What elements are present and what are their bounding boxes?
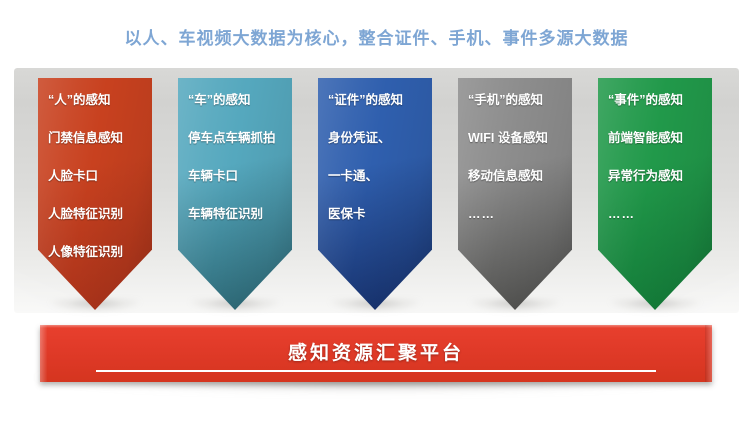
pennant-label-list-event: “事件”的感知前端智能感知异常行为感知…… [598,78,712,244]
pennant-header-event: “事件”的感知 [598,92,712,130]
pennant-item-credential-2: 医保卡 [318,206,432,244]
pennant-header-vehicle: “车”的感知 [178,92,292,130]
pennant-item-event-2: …… [598,206,712,244]
pennant-item-mobile-2: …… [458,206,572,244]
pennant-mobile[interactable]: “手机”的感知WIFI 设备感知移动信息感知…… [458,78,572,310]
pennant-item-event-0: 前端智能感知 [598,130,712,168]
pennant-vehicle[interactable]: “车”的感知停车点车辆抓拍车辆卡口车辆特征识别 [178,78,292,310]
pennant-item-person-0: 门禁信息感知 [38,130,152,168]
pennant-item-person-1: 人脸卡口 [38,168,152,206]
pennant-header-credential: “证件”的感知 [318,92,432,130]
pennant-credential[interactable]: “证件”的感知身份凭证、一卡通、医保卡 [318,78,432,310]
banner-top-highlight [40,325,712,328]
pennant-item-mobile-0: WIFI 设备感知 [458,130,572,168]
banner-underline [96,370,656,372]
pennant-person[interactable]: “人”的感知门禁信息感知人脸卡口人脸特征识别人像特征识别 [38,78,152,310]
pennant-item-event-1: 异常行为感知 [598,168,712,206]
platform-banner[interactable]: 感知资源汇聚平台 [40,325,712,382]
pennant-item-vehicle-0: 停车点车辆抓拍 [178,130,292,168]
pennant-item-credential-1: 一卡通、 [318,168,432,206]
pennant-item-vehicle-1: 车辆卡口 [178,168,292,206]
pennant-label-list-credential: “证件”的感知身份凭证、一卡通、医保卡 [318,78,432,244]
pennant-header-person: “人”的感知 [38,92,152,130]
pennant-item-person-2: 人脸特征识别 [38,206,152,244]
pennant-item-credential-0: 身份凭证、 [318,130,432,168]
platform-banner-label: 感知资源汇聚平台 [40,338,712,365]
pennant-label-list-mobile: “手机”的感知WIFI 设备感知移动信息感知…… [458,78,572,244]
pennant-item-vehicle-2: 车辆特征识别 [178,206,292,244]
pennant-event[interactable]: “事件”的感知前端智能感知异常行为感知…… [598,78,712,310]
pennant-item-person-3: 人像特征识别 [38,244,152,282]
pennant-header-mobile: “手机”的感知 [458,92,572,130]
pennant-label-list-vehicle: “车”的感知停车点车辆抓拍车辆卡口车辆特征识别 [178,78,292,244]
pennant-label-list-person: “人”的感知门禁信息感知人脸卡口人脸特征识别人像特征识别 [38,78,152,282]
pennant-item-mobile-1: 移动信息感知 [458,168,572,206]
